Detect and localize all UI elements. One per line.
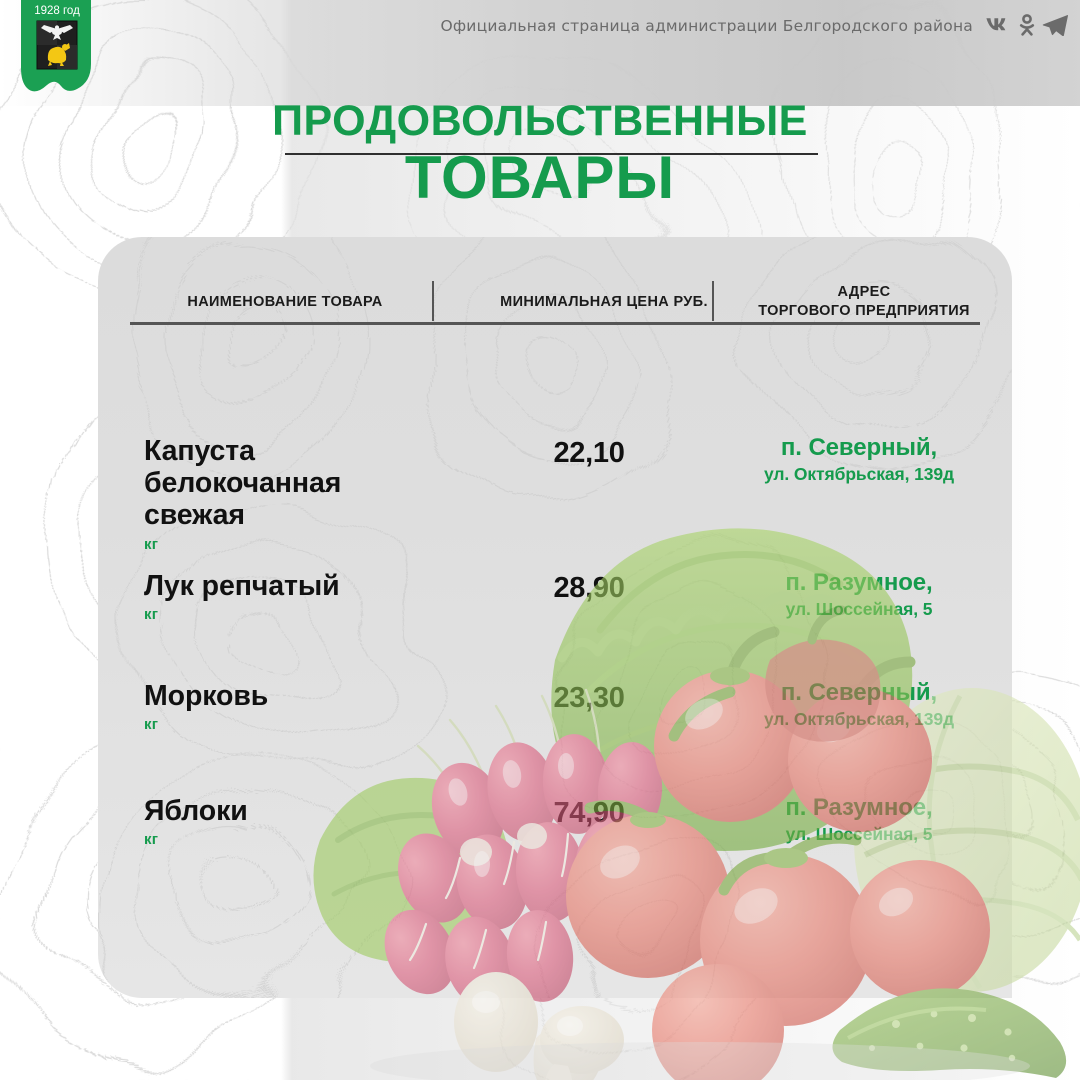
product-name: Лук репчатый — [144, 570, 340, 602]
address-street: ул. Октябрьская, 139д — [714, 464, 1004, 485]
price-table-card: НАИМЕНОВАНИЕ ТОВАРА МИНИМАЛЬНАЯ ЦЕНА РУБ… — [98, 237, 1012, 998]
price-table: НАИМЕНОВАНИЕ ТОВАРА МИНИМАЛЬНАЯ ЦЕНА РУБ… — [98, 237, 1012, 998]
product-price: 23,30 — [464, 682, 714, 715]
address-city: п. Северный, — [714, 680, 1004, 707]
product-price: 28,90 — [464, 572, 714, 605]
administration-logo[interactable]: 1928 год — [17, 0, 97, 98]
product-name: Капуста белокочанная свежая — [144, 435, 341, 531]
product-unit: кг — [144, 832, 444, 849]
coat-of-arms-icon — [37, 21, 77, 69]
infographic-canvas: 1928 год — [0, 0, 1080, 1080]
product-address-cell: п. Разумное, ул. Шоссейная, 5 — [714, 570, 1004, 620]
column-header-address-line2: ТОРГОВОГО ПРЕДПРИЯТИЯ — [758, 303, 970, 319]
product-address-cell: п. Разумное, ул. Шоссейная, 5 — [714, 795, 1004, 845]
page-title: ПРОДОВОЛЬСТВЕННЫЕ ТОВАРЫ — [0, 100, 1080, 208]
column-header-price: МИНИМАЛЬНАЯ ЦЕНА РУБ. — [464, 293, 744, 312]
product-name-cell: Капуста белокочанная свежая кг — [144, 435, 444, 554]
product-unit: кг — [144, 717, 444, 734]
address-city: п. Разумное, — [714, 570, 1004, 597]
column-header-address: АДРЕС ТОРГОВОГО ПРЕДПРИЯТИЯ — [748, 283, 980, 321]
column-divider-1 — [432, 281, 434, 321]
column-divider-2 — [712, 281, 714, 321]
product-name: Яблоки — [144, 795, 248, 827]
column-header-address-line1: АДРЕС — [838, 284, 891, 300]
address-street: ул. Октябрьская, 139д — [714, 709, 1004, 730]
header-rule — [130, 322, 980, 325]
product-name-cell: Морковь кг — [144, 680, 444, 734]
vk-icon[interactable] — [984, 15, 1012, 35]
product-address-cell: п. Северный, ул. Октябрьская, 139д — [714, 435, 1004, 485]
social-links — [984, 14, 1068, 36]
product-name-cell: Лук репчатый кг — [144, 570, 444, 624]
column-header-name: НАИМЕНОВАНИЕ ТОВАРА — [130, 293, 440, 312]
address-city: п. Северный, — [714, 435, 1004, 462]
ok-icon[interactable] — [1019, 14, 1035, 36]
official-page-label: Официальная страница администрации Белго… — [440, 17, 973, 35]
address-city: п. Разумное, — [714, 795, 1004, 822]
product-unit: кг — [144, 607, 444, 624]
product-address-cell: п. Северный, ул. Октябрьская, 139д — [714, 680, 1004, 730]
product-price: 74,90 — [464, 797, 714, 830]
product-name-cell: Яблоки кг — [144, 795, 444, 849]
logo-year-text: 1928 год — [34, 5, 80, 17]
address-street: ул. Шоссейная, 5 — [714, 599, 1004, 620]
product-name: Морковь — [144, 680, 268, 712]
page-title-line2: ТОВАРЫ — [397, 148, 683, 208]
page-title-line1: ПРОДОВОЛЬСТВЕННЫЕ — [268, 100, 812, 143]
product-price: 22,10 — [464, 437, 714, 470]
address-street: ул. Шоссейная, 5 — [714, 824, 1004, 845]
product-unit: кг — [144, 537, 444, 554]
telegram-icon[interactable] — [1042, 14, 1068, 36]
